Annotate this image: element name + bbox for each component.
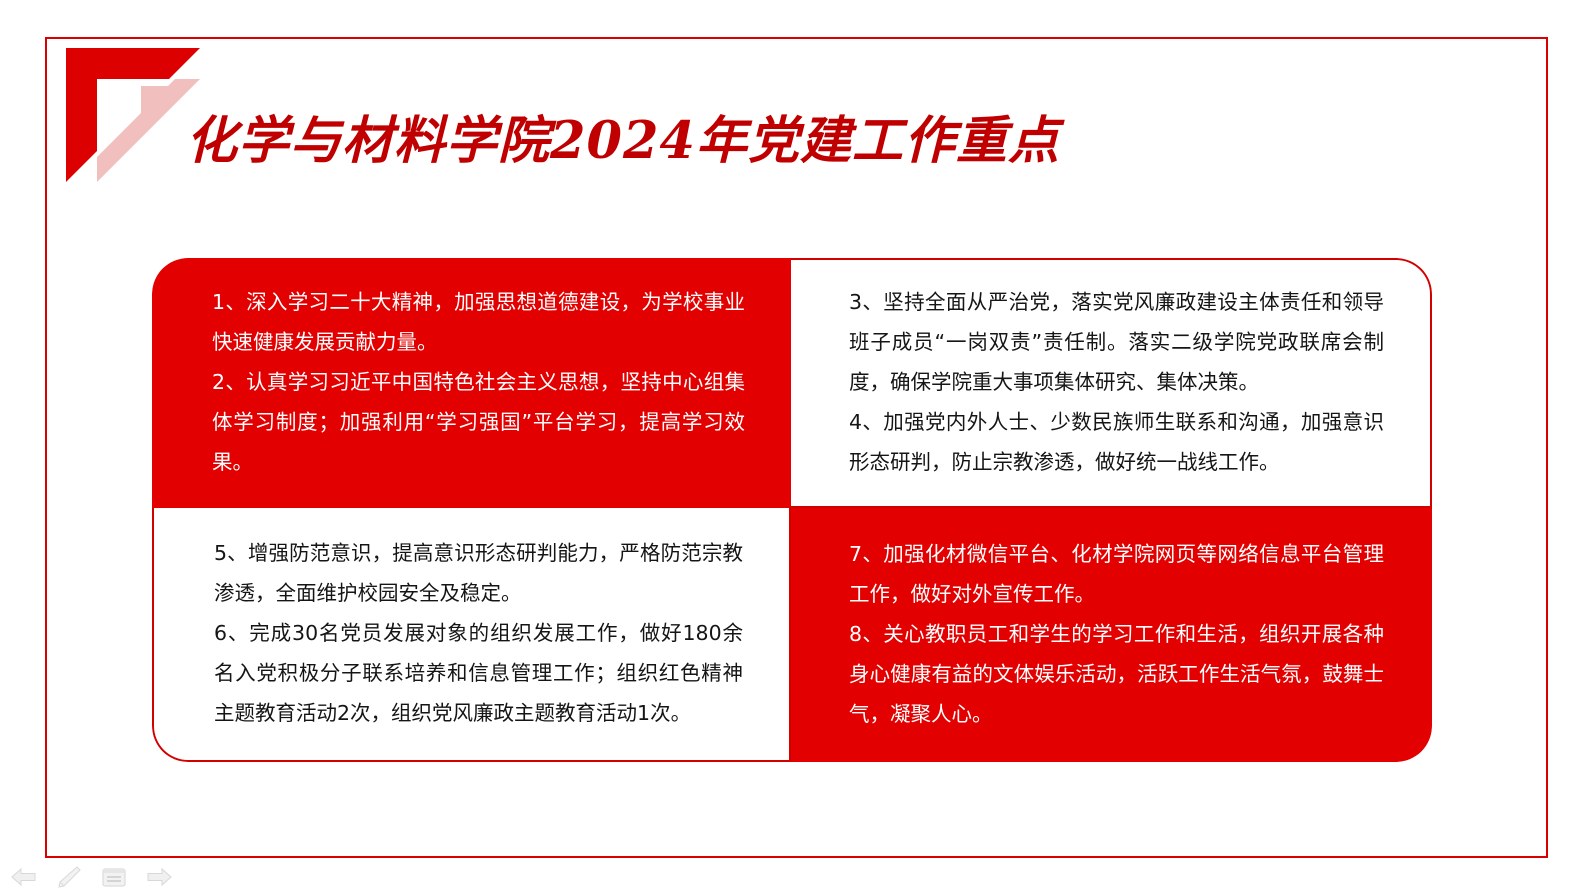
quadrant-top-right: 3、坚持全面从严治党，落实党风廉政建设主体责任和领导班子成员“一岗双责”责任制。…	[791, 258, 1432, 508]
list-item: 6、完成30名党员发展对象的组织发展工作，做好180余名入党积极分子联系培养和信…	[214, 614, 743, 734]
list-item: 7、加强化材微信平台、化材学院网页等网络信息平台管理工作，做好对外宣传工作。	[849, 535, 1384, 615]
quadrant-bottom-right: 7、加强化材微信平台、化材学院网页等网络信息平台管理工作，做好对外宣传工作。 8…	[791, 508, 1432, 762]
quadrant-top-left-text: 1、深入学习二十大精神，加强思想道德建设，为学校事业快速健康发展贡献力量。 2、…	[152, 283, 791, 483]
list-item: 4、加强党内外人士、少数民族师生联系和沟通，加强意识形态研判，防止宗教渗透，做好…	[849, 403, 1384, 483]
previous-arrow-icon[interactable]	[10, 864, 38, 890]
quadrant-top-right-text: 3、坚持全面从严治党，落实党风廉政建设主体责任和领导班子成员“一岗双责”责任制。…	[791, 283, 1430, 483]
quadrant-bottom-left-text: 5、增强防范意识，提高意识形态研判能力，严格防范宗教渗透，全面维护校园安全及稳定…	[154, 534, 789, 734]
list-item: 5、增强防范意识，提高意识形态研判能力，严格防范宗教渗透，全面维护校园安全及稳定…	[214, 534, 743, 614]
notes-icon[interactable]	[100, 864, 128, 890]
list-item: 8、关心教职员工和学生的学习工作和生活，组织开展各种身心健康有益的文体娱乐活动，…	[849, 615, 1384, 735]
list-item: 3、坚持全面从严治党，落实党风廉政建设主体责任和领导班子成员“一岗双责”责任制。…	[849, 283, 1384, 403]
list-item: 1、深入学习二十大精神，加强思想道德建设，为学校事业快速健康发展贡献力量。	[212, 283, 745, 363]
pink-triangle-decoration	[141, 86, 189, 134]
bottom-toolbar	[10, 862, 190, 892]
next-arrow-icon[interactable]	[145, 864, 173, 890]
quadrant-bottom-left: 5、增强防范意识，提高意识形态研判能力，严格防范宗教渗透，全面维护校园安全及稳定…	[152, 508, 791, 762]
content-grid: 1、深入学习二十大精神，加强思想道德建设，为学校事业快速健康发展贡献力量。 2、…	[152, 258, 1432, 762]
list-item: 2、认真学习习近平中国特色社会主义思想，坚持中心组集体学习制度；加强利用“学习强…	[212, 363, 745, 483]
quadrant-bottom-right-text: 7、加强化材微信平台、化材学院网页等网络信息平台管理工作，做好对外宣传工作。 8…	[791, 535, 1432, 735]
page-title: 化学与材料学院2024年党建工作重点	[186, 112, 1060, 171]
quadrant-top-left: 1、深入学习二十大精神，加强思想道德建设，为学校事业快速健康发展贡献力量。 2、…	[152, 258, 791, 508]
pencil-icon[interactable]	[55, 864, 83, 890]
